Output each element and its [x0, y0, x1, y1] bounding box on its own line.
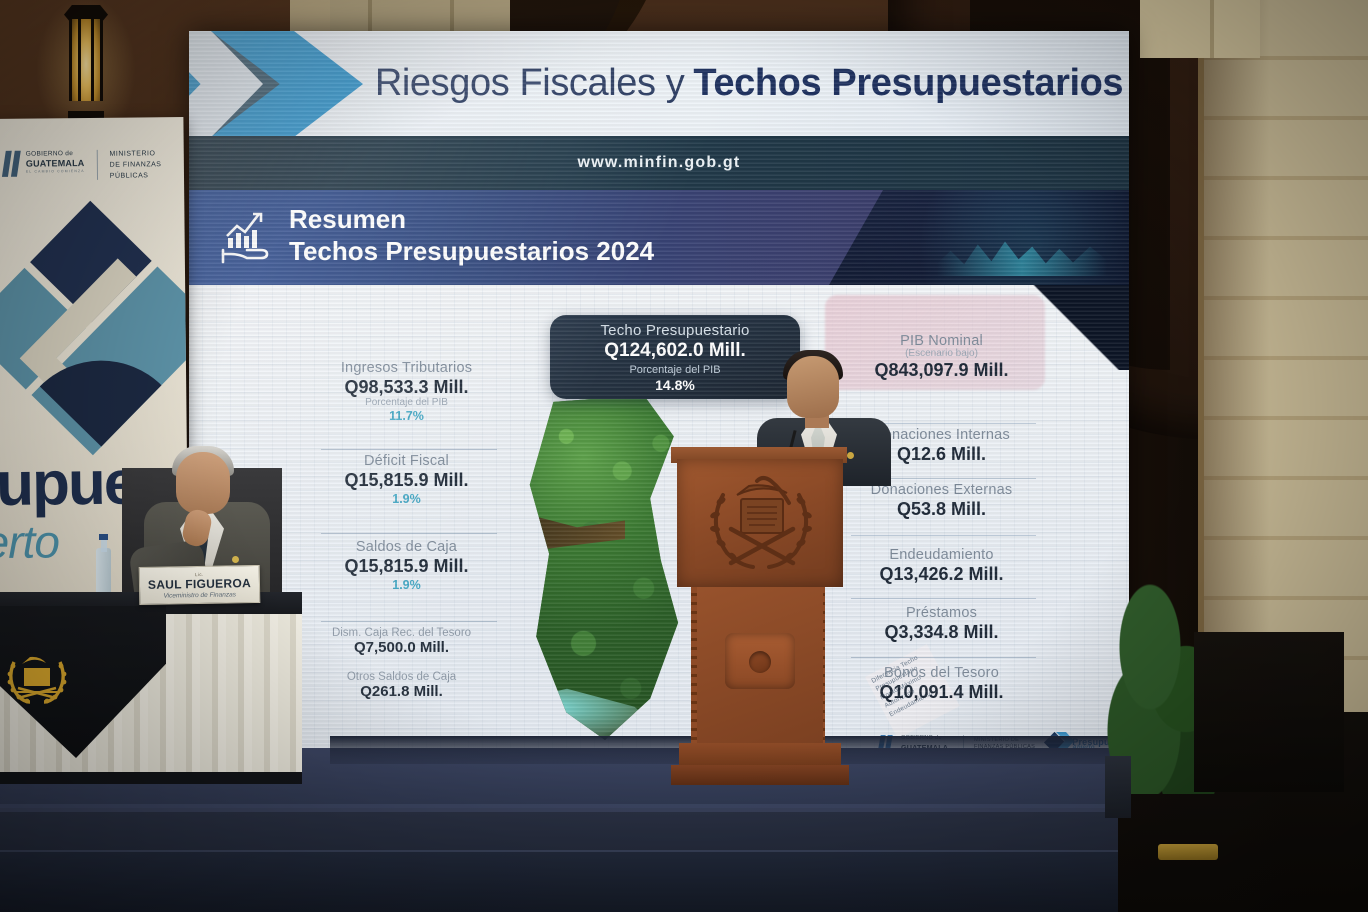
metric-label: Dism. Caja Rec. del Tesoro	[294, 627, 509, 639]
banner-ministry-text: MINISTERIO DE FINANZAS PÚBLICAS	[109, 149, 161, 182]
nameplate-name: SAUL FIGUEROA	[148, 576, 251, 592]
divider	[321, 621, 497, 622]
metric-saldos-de-caja: Saldos de Caja Q15,815.9 Mill. 1.9%	[299, 539, 514, 592]
stage-platform-front	[0, 850, 1160, 912]
floor-object	[1158, 844, 1218, 860]
head-table	[0, 592, 302, 807]
section-header-band: Resumen Techos Presupuestarios 2024	[189, 190, 1129, 285]
divider	[321, 533, 497, 534]
banner-word-bottom: bierto	[0, 514, 59, 569]
water-bottle	[96, 534, 111, 596]
divider	[851, 535, 1036, 536]
metric-value: Q53.8 Mill.	[834, 499, 1049, 520]
metric-label: Déficit Fiscal	[299, 453, 514, 469]
projection-screen: Riesgos Fiscales y Techos Presupuestario…	[189, 31, 1129, 756]
metric-value: Q261.8 Mill.	[294, 683, 509, 700]
metric-value: Q13,426.2 Mill.	[834, 564, 1049, 585]
slide-title-band: Riesgos Fiscales y Techos Presupuestario…	[189, 31, 1129, 136]
highlight-label: Techo Presupuestario	[550, 322, 800, 339]
metric-label: Endeudamiento	[834, 547, 1049, 563]
metric-value: Q7,500.0 Mill.	[294, 639, 509, 656]
metric-ingresos-tributarios: Ingresos Tributarios Q98,533.3 Mill. Por…	[299, 360, 514, 423]
banner-logo-divider	[96, 150, 97, 180]
presupuesto-abierto-diamond-logo	[0, 201, 189, 456]
banner-gov-line1: GOBIERNO de	[26, 150, 73, 157]
metric-percent: 1.9%	[299, 578, 514, 592]
metric-value: Q15,815.9 Mill.	[299, 556, 514, 577]
metric-deficit-fiscal: Déficit Fiscal Q15,815.9 Mill. 1.9%	[299, 453, 514, 506]
banner-gov-tagline: EL CAMBIO COMIENZA	[26, 169, 85, 174]
metric-label: Ingresos Tributarios	[299, 360, 514, 376]
divider	[321, 449, 497, 450]
ministry-line3: PÚBLICAS	[110, 172, 149, 179]
metric-percent: 1.9%	[299, 492, 514, 506]
stone-masonry-top-right	[1140, 0, 1260, 58]
metric-label: Bonos del Tesoro	[834, 665, 1049, 681]
metric-dism-caja-rec-tesoro: Dism. Caja Rec. del Tesoro Q7,500.0 Mill…	[294, 627, 509, 656]
section-title-line2: Techos Presupuestarios 2024	[289, 236, 654, 268]
metric-prestamos: Préstamos Q3,334.8 Mill.	[834, 605, 1049, 643]
metric-bonos-del-tesoro: Bonos del Tesoro Q10,091.4 Mill.	[834, 665, 1049, 703]
banner-ministry-logo: GOBIERNO de GUATEMALA EL CAMBIO COMIENZA…	[4, 149, 162, 183]
metric-value: Q3,334.8 Mill.	[834, 622, 1049, 643]
chevron-logo-icon	[189, 31, 379, 136]
ministry-line1: MINISTERIO	[110, 150, 156, 157]
metric-otros-saldos-caja: Otros Saldos de Caja Q261.8 Mill.	[294, 671, 509, 700]
ministry-line2: DE FINANZAS	[110, 161, 162, 169]
divider	[851, 657, 1036, 658]
growth-chart-hand-icon	[217, 206, 279, 268]
banner-word-top: esupue	[0, 448, 137, 521]
metric-percent: 11.7%	[299, 409, 514, 423]
chair-right	[1194, 632, 1344, 792]
metric-donaciones-externas: Donaciones Externas Q53.8 Mill.	[834, 482, 1049, 520]
metric-value: Q10,091.4 Mill.	[834, 682, 1049, 703]
website-band: www.minfin.gob.gt	[189, 136, 1129, 190]
metric-endeudamiento: Endeudamiento Q13,426.2 Mill.	[834, 547, 1049, 585]
metric-label: Otros Saldos de Caja	[294, 671, 509, 683]
lapel-pin-icon	[232, 556, 239, 563]
screen-stand	[1105, 756, 1131, 818]
wooden-podium	[663, 447, 853, 827]
section-title-line1: Resumen	[289, 204, 654, 236]
title-regular: Riesgos Fiscales y	[375, 62, 685, 105]
wall-lantern-icon	[62, 5, 110, 123]
metric-label: PIB Nominal	[834, 333, 1049, 349]
metric-value: Q98,533.3 Mill.	[299, 377, 514, 398]
page-title: Riesgos Fiscales y Techos Presupuestario…	[389, 31, 1109, 136]
metric-sublabel: Porcentaje del PIB	[299, 397, 514, 408]
metric-label: Préstamos	[834, 605, 1049, 621]
metric-label: Saldos de Caja	[299, 539, 514, 555]
banner-gov-line2: GUATEMALA	[26, 158, 85, 169]
guatemala-coat-of-arms-gold-icon	[0, 650, 74, 708]
slide-body: Diferencia Techo Presupuestario Monto Má…	[189, 285, 1129, 756]
nameplate-role: Viceministro de Finanzas	[163, 591, 236, 599]
title-bold: Techos Presupuestarios	[693, 62, 1123, 105]
gobierno-guatemala-mark-icon	[4, 151, 19, 177]
screenshot-stage: Riesgos Fiscales y Techos Presupuestario…	[0, 0, 1368, 912]
banner-gov-text: GOBIERNO de GUATEMALA EL CAMBIO COMIENZA	[26, 150, 85, 174]
metric-value: Q15,815.9 Mill.	[299, 470, 514, 491]
section-title: Resumen Techos Presupuestarios 2024	[289, 204, 654, 267]
divider	[851, 598, 1036, 599]
nameplate: Lic. SAUL FIGUEROA Viceministro de Finan…	[139, 565, 261, 605]
website-url: www.minfin.gob.gt	[578, 154, 741, 172]
guatemala-coat-of-arms-icon	[697, 473, 825, 573]
